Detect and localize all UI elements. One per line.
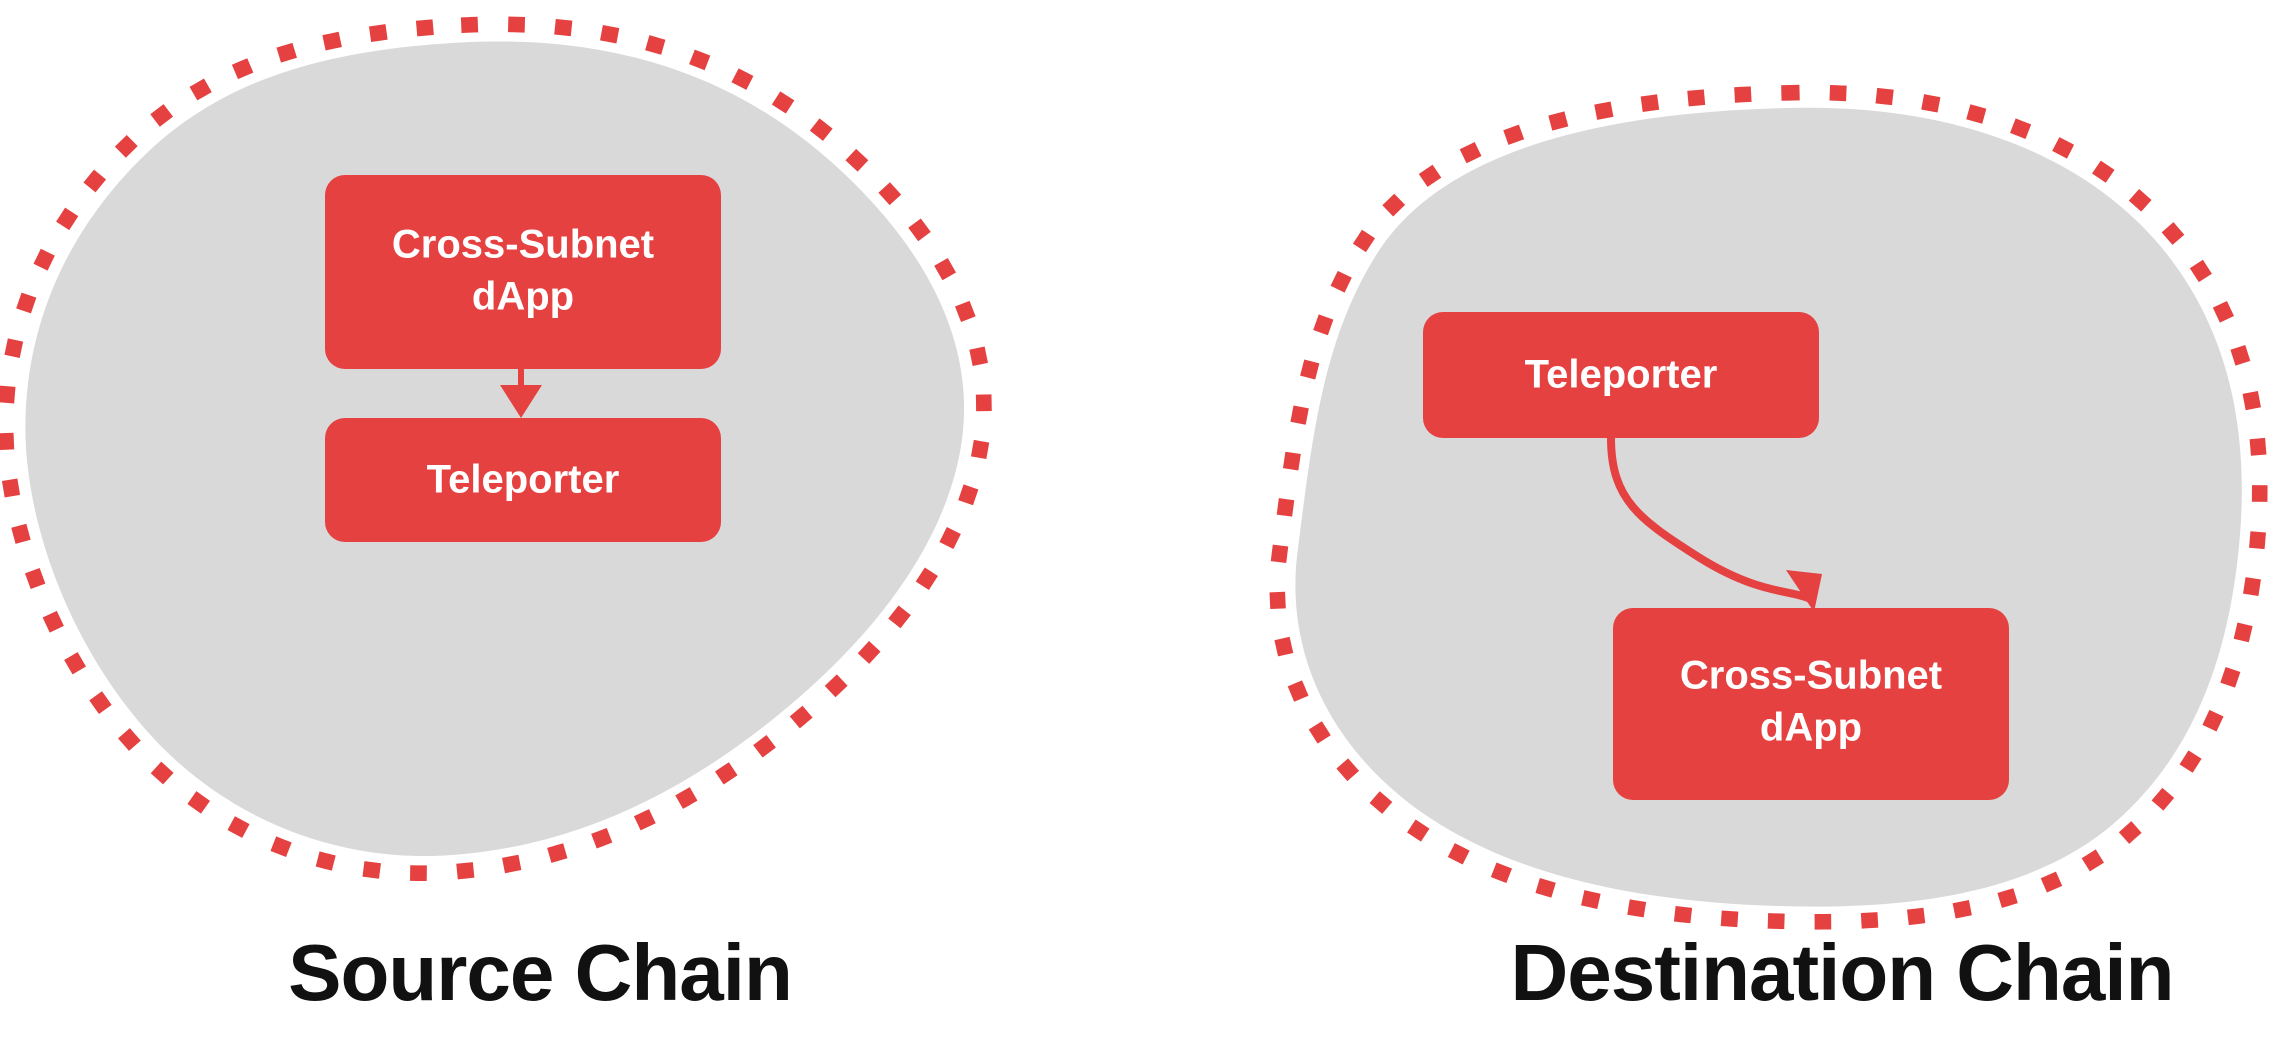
source-dapp-label-line2: dApp bbox=[472, 275, 574, 319]
source-chain-group: Cross-Subnet dApp Teleporter Source Chai… bbox=[6, 24, 984, 1017]
source-dapp-box[interactable]: Cross-Subnet dApp bbox=[325, 175, 721, 369]
source-teleporter-box[interactable]: Teleporter bbox=[325, 418, 721, 542]
destination-chain-caption: Destination Chain bbox=[1510, 928, 2173, 1017]
destination-teleporter-box[interactable]: Teleporter bbox=[1423, 312, 1819, 438]
source-dapp-box-rect[interactable] bbox=[325, 175, 721, 369]
diagram-svg: Cross-Subnet dApp Teleporter Source Chai… bbox=[0, 0, 2292, 1054]
destination-chain-group: Teleporter Cross-Subnet dApp Destination… bbox=[1277, 93, 2259, 1017]
destination-dapp-box[interactable]: Cross-Subnet dApp bbox=[1613, 608, 2009, 800]
destination-dapp-box-rect[interactable] bbox=[1613, 608, 2009, 800]
destination-teleporter-label: Teleporter bbox=[1525, 353, 1718, 397]
source-dapp-label-line1: Cross-Subnet bbox=[392, 223, 654, 267]
diagram-canvas: Cross-Subnet dApp Teleporter Source Chai… bbox=[0, 0, 2292, 1054]
destination-dapp-label-line1: Cross-Subnet bbox=[1680, 654, 1942, 698]
source-chain-caption: Source Chain bbox=[288, 928, 792, 1017]
source-teleporter-label: Teleporter bbox=[427, 458, 620, 502]
destination-dapp-label-line2: dApp bbox=[1760, 706, 1862, 750]
